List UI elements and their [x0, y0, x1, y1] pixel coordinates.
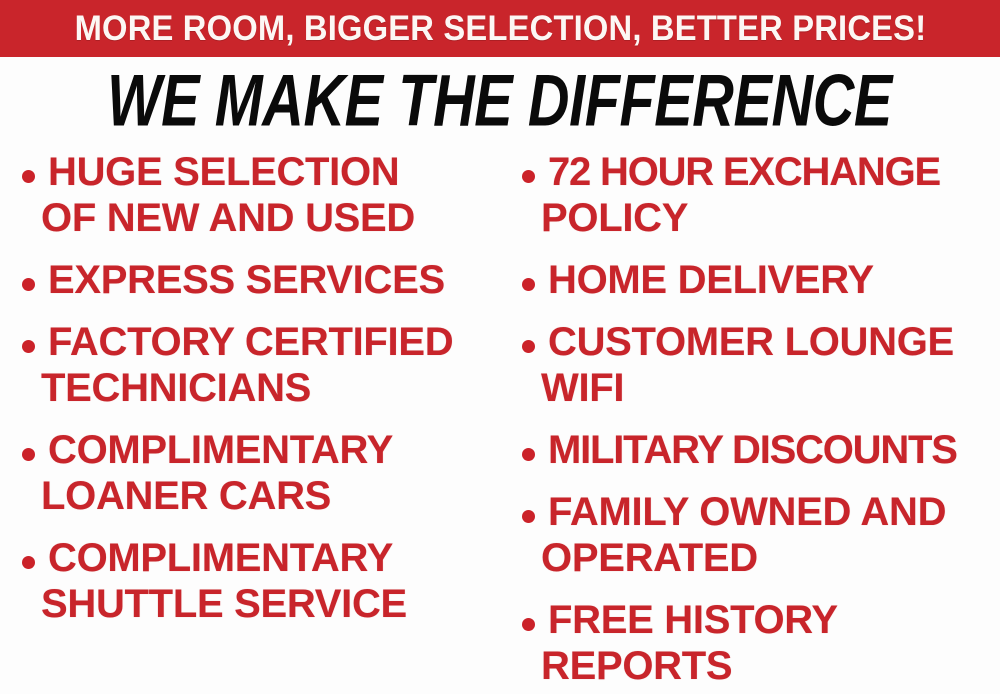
- benefit-item: HOME DELIVERY: [508, 260, 1000, 300]
- benefit-label-line1: EXPRESS SERVICES: [48, 260, 500, 300]
- headline-container: WE MAKE THE DIFFERENCE: [0, 62, 1000, 140]
- banner-headline-text: MORE ROOM, BIGGER SELECTION, BETTER PRIC…: [74, 11, 926, 46]
- benefit-label: HUGE SELECTIONOF NEW AND USED: [48, 152, 500, 238]
- benefit-item: FACTORY CERTIFIEDTECHNICIANS: [8, 322, 500, 408]
- benefit-label: FACTORY CERTIFIEDTECHNICIANS: [48, 322, 500, 408]
- benefit-label-line1: CUSTOMER LOUNGE: [548, 322, 1000, 362]
- bullet-dot-icon: [22, 448, 35, 461]
- benefit-item: FREE HISTORYREPORTS: [508, 600, 1000, 686]
- bullet-dot-icon: [522, 340, 535, 353]
- benefits-column-left: HUGE SELECTIONOF NEW AND USEDEXPRESS SER…: [8, 152, 500, 694]
- bullet-dot-icon: [522, 448, 535, 461]
- benefit-label: COMPLIMENTARYSHUTTLE SERVICE: [48, 538, 500, 624]
- benefit-label: EXPRESS SERVICES: [48, 260, 500, 300]
- benefit-label-line1: COMPLIMENTARY: [48, 538, 500, 578]
- benefits-columns: HUGE SELECTIONOF NEW AND USEDEXPRESS SER…: [0, 152, 1000, 694]
- bullet-dot-icon: [522, 170, 535, 183]
- benefit-item: COMPLIMENTARYLOANER CARS: [8, 430, 500, 516]
- benefit-label-line1: 72 HOUR EXCHANGE: [548, 152, 1000, 192]
- benefit-label-line2: OF NEW AND USED: [41, 198, 500, 238]
- benefit-label-line2: SHUTTLE SERVICE: [41, 584, 500, 624]
- benefit-label-line1: FREE HISTORY: [548, 600, 1000, 640]
- bullet-dot-icon: [22, 278, 35, 291]
- benefit-item: EXPRESS SERVICES: [8, 260, 500, 300]
- benefit-label: COMPLIMENTARYLOANER CARS: [48, 430, 500, 516]
- benefit-item: 72 HOUR EXCHANGEPOLICY: [508, 152, 1000, 238]
- bullet-dot-icon: [522, 278, 535, 291]
- benefit-label: HOME DELIVERY: [548, 260, 1000, 300]
- benefits-column-right: 72 HOUR EXCHANGEPOLICYHOME DELIVERYCUSTO…: [508, 152, 1000, 694]
- benefit-item: COMPLIMENTARYSHUTTLE SERVICE: [8, 538, 500, 624]
- benefit-label: FREE HISTORYREPORTS: [548, 600, 1000, 686]
- page-title: WE MAKE THE DIFFERENCE: [108, 64, 893, 137]
- benefit-label-line1: HUGE SELECTION: [48, 152, 500, 192]
- benefit-item: HUGE SELECTIONOF NEW AND USED: [8, 152, 500, 238]
- bullet-dot-icon: [22, 340, 35, 353]
- bullet-dot-icon: [22, 170, 35, 183]
- benefit-label-line2: WIFI: [541, 368, 1000, 408]
- promo-poster: MORE ROOM, BIGGER SELECTION, BETTER PRIC…: [0, 0, 1000, 694]
- benefit-item: MILITARY DISCOUNTS: [508, 430, 1000, 470]
- benefit-label: 72 HOUR EXCHANGEPOLICY: [548, 152, 1000, 238]
- benefit-label-line2: POLICY: [541, 198, 1000, 238]
- benefit-label: FAMILY OWNED ANDOPERATED: [548, 492, 1000, 578]
- benefit-label-line2: LOANER CARS: [41, 476, 500, 516]
- top-banner: MORE ROOM, BIGGER SELECTION, BETTER PRIC…: [0, 0, 1000, 57]
- benefit-label-line1: FAMILY OWNED AND: [548, 492, 1000, 532]
- benefit-item: FAMILY OWNED ANDOPERATED: [508, 492, 1000, 578]
- benefit-label-line2: REPORTS: [541, 646, 1000, 686]
- bullet-dot-icon: [522, 510, 535, 523]
- benefit-label-line1: MILITARY DISCOUNTS: [548, 430, 1000, 470]
- bullet-dot-icon: [22, 556, 35, 569]
- bullet-dot-icon: [522, 618, 535, 631]
- benefit-label-line1: COMPLIMENTARY: [48, 430, 500, 470]
- benefit-item: CUSTOMER LOUNGEWIFI: [508, 322, 1000, 408]
- benefit-label-line2: TECHNICIANS: [41, 368, 500, 408]
- benefit-label-line1: FACTORY CERTIFIED: [48, 322, 500, 362]
- benefit-label-line2: OPERATED: [541, 538, 1000, 578]
- benefit-label: CUSTOMER LOUNGEWIFI: [548, 322, 1000, 408]
- benefit-label: MILITARY DISCOUNTS: [548, 430, 1000, 470]
- benefit-label-line1: HOME DELIVERY: [548, 260, 1000, 300]
